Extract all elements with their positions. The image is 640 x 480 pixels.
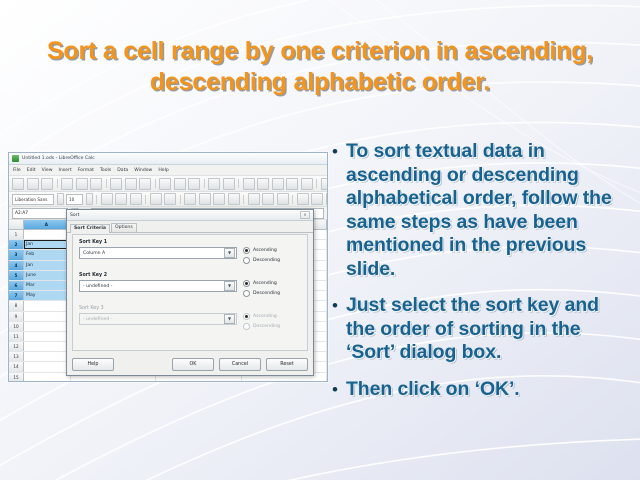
print-preview-icon[interactable] xyxy=(90,178,102,190)
sort-key-1-descending-radio[interactable]: Descending xyxy=(243,257,301,264)
name-box-input[interactable]: A2:A7 xyxy=(12,208,68,219)
radio-dot-icon xyxy=(243,247,250,254)
formatting-toolbar: Liberation Sans 10 xyxy=(9,192,327,207)
grid-cell[interactable]: Jan xyxy=(24,261,71,270)
sort-key-3-descending-radio: Descending xyxy=(243,323,301,330)
sort-key-3-value: - undefined - xyxy=(80,317,112,322)
slide-canvas: Sort a cell range by one criterion in as… xyxy=(0,0,640,480)
toolbar-separator xyxy=(292,195,293,204)
bullet-text: Just select the sort key and the order o… xyxy=(346,294,630,365)
sort-descending-icon[interactable] xyxy=(257,178,269,190)
align-right-icon[interactable] xyxy=(213,193,225,205)
descending-label: Descending xyxy=(253,258,280,263)
bullet-text: Then click on ‘OK’. xyxy=(346,378,630,402)
sort-key-3-select: - undefined - ▼ xyxy=(79,313,237,325)
tab-sort-criteria[interactable]: Sort Criteria xyxy=(70,224,110,233)
bullet-marker-icon: • xyxy=(330,294,346,317)
autofilter-icon[interactable] xyxy=(272,178,284,190)
align-center-icon[interactable] xyxy=(199,193,211,205)
sort-key-1-group: Sort Key 1 Column A ▼ Ascending xyxy=(79,240,301,267)
print-icon[interactable] xyxy=(76,178,88,190)
row-header[interactable]: 5 xyxy=(9,271,24,280)
sort-dialog-button-row: Help OK Cancel Reset xyxy=(72,358,308,371)
sort-key-3-ascending-radio: Ascending xyxy=(243,313,301,320)
save-icon[interactable] xyxy=(41,178,53,190)
row-header[interactable]: 15 xyxy=(9,373,24,382)
grid-cell[interactable] xyxy=(24,301,71,310)
embedded-screenshot-libreoffice-calc: Untitled 1.ods - LibreOffice Calc File E… xyxy=(8,152,328,382)
sort-key-2-ascending-radio[interactable]: Ascending xyxy=(243,280,301,287)
toolbar-separator xyxy=(204,179,205,188)
format-currency-icon[interactable] xyxy=(297,193,309,205)
clone-formatting-icon[interactable] xyxy=(159,178,171,190)
font-name-input[interactable]: Liberation Sans xyxy=(12,194,54,205)
grid-cell[interactable] xyxy=(24,342,71,351)
grid-cell[interactable]: Feb xyxy=(24,250,71,259)
spelling-icon[interactable] xyxy=(208,178,220,190)
radio-dot-icon xyxy=(243,313,250,320)
menu-item-file[interactable]: File xyxy=(13,168,21,173)
grid-cell[interactable] xyxy=(24,332,71,341)
row-header[interactable]: 8 xyxy=(9,301,24,310)
bullet-text: To sort textual data in ascending or des… xyxy=(346,140,630,281)
grid-cell[interactable]: June xyxy=(24,271,71,280)
format-percent-icon[interactable] xyxy=(311,193,323,205)
sort-dialog: Sort × Sort Criteria Options Sort Key 1 … xyxy=(66,209,314,376)
list-item: • Just select the sort key and the order… xyxy=(330,294,630,365)
reset-button[interactable]: Reset xyxy=(266,358,308,371)
menu-item-help[interactable]: Help xyxy=(158,168,168,173)
row-header[interactable]: 11 xyxy=(9,332,24,341)
menu-item-view[interactable]: View xyxy=(42,168,53,173)
menu-item-insert[interactable]: Insert xyxy=(59,168,72,173)
toolbar-separator xyxy=(243,195,244,204)
ascending-label: Ascending xyxy=(253,314,277,319)
chevron-down-icon[interactable]: ▼ xyxy=(224,248,235,258)
calc-menu-bar: File Edit View Insert Format Tools Data … xyxy=(9,165,327,176)
sort-key-3-label: Sort Key 3 xyxy=(79,306,301,311)
toolbar-separator xyxy=(316,179,317,188)
sort-key-2-descending-radio[interactable]: Descending xyxy=(243,290,301,297)
row-header[interactable]: 10 xyxy=(9,322,24,331)
row-header[interactable]: 9 xyxy=(9,312,24,321)
list-item: • Then click on ‘OK’. xyxy=(330,378,630,402)
bullet-marker-icon: • xyxy=(330,140,346,163)
radio-dot-icon xyxy=(243,323,250,330)
toolbar-separator xyxy=(57,179,58,188)
sort-key-1-label: Sort Key 1 xyxy=(79,240,301,245)
column-header-a[interactable]: A xyxy=(24,220,70,229)
paste-icon[interactable] xyxy=(139,178,151,190)
row-header[interactable]: 6 xyxy=(9,281,24,290)
ok-button[interactable]: OK xyxy=(172,358,214,371)
row-header[interactable]: 12 xyxy=(9,342,24,351)
calc-window-title-bar: Untitled 1.ods - LibreOffice Calc xyxy=(9,153,327,165)
close-icon[interactable]: × xyxy=(300,211,310,219)
grid-cell[interactable] xyxy=(24,322,71,331)
sort-ascending-icon[interactable] xyxy=(243,178,255,190)
font-size-dropdown-icon[interactable] xyxy=(86,193,93,205)
underline-icon[interactable] xyxy=(130,193,142,205)
insert-hyperlink-icon[interactable] xyxy=(321,178,329,190)
slide-body-bullet-list: • To sort textual data in ascending or d… xyxy=(330,140,630,414)
radio-dot-icon xyxy=(243,280,250,287)
sort-key-2-label: Sort Key 2 xyxy=(79,273,301,278)
calc-document-icon xyxy=(12,155,19,162)
format-number-icon[interactable] xyxy=(326,193,329,205)
menu-item-edit[interactable]: Edit xyxy=(27,168,36,173)
ascending-label: Ascending xyxy=(253,281,277,286)
grid-cell[interactable]: Mar xyxy=(24,281,71,290)
sort-key-3-group: Sort Key 3 - undefined - ▼ Ascending xyxy=(79,306,301,333)
row-header[interactable]: 2 xyxy=(9,240,24,249)
font-name-dropdown-icon[interactable] xyxy=(57,193,64,205)
cut-icon[interactable] xyxy=(110,178,122,190)
sort-dialog-tab-strip: Sort Criteria Options xyxy=(67,221,313,233)
row-header[interactable]: 14 xyxy=(9,362,24,371)
sort-key-2-value: - undefined - xyxy=(80,284,112,289)
toolbar-separator xyxy=(238,179,239,188)
toolbar-separator xyxy=(180,195,181,204)
grid-cell[interactable] xyxy=(24,230,71,239)
align-top-icon[interactable] xyxy=(248,193,260,205)
row-header[interactable]: 3 xyxy=(9,250,24,259)
row-header[interactable]: 13 xyxy=(9,352,24,361)
radio-dot-icon xyxy=(243,257,250,264)
radio-dot-icon xyxy=(243,290,250,297)
sort-key-1-value: Column A xyxy=(80,251,105,256)
sort-key-1-select[interactable]: Column A ▼ xyxy=(79,247,237,259)
copy-icon[interactable] xyxy=(125,178,137,190)
sort-key-1-ascending-radio[interactable]: Ascending xyxy=(243,247,301,254)
descending-label: Descending xyxy=(253,324,280,329)
align-justified-icon[interactable] xyxy=(228,193,240,205)
list-item: • To sort textual data in ascending or d… xyxy=(330,140,630,281)
toolbar-separator xyxy=(145,195,146,204)
font-size-input[interactable]: 10 xyxy=(66,194,83,205)
insert-chart-icon[interactable] xyxy=(286,178,298,190)
menu-item-window[interactable]: Window xyxy=(134,168,152,173)
align-left-icon[interactable] xyxy=(184,193,196,205)
sort-key-2-select[interactable]: - undefined - ▼ xyxy=(79,280,237,292)
align-bottom-icon[interactable] xyxy=(277,193,289,205)
row-header[interactable]: 4 xyxy=(9,261,24,270)
grid-cell[interactable] xyxy=(24,312,71,321)
cancel-button[interactable]: Cancel xyxy=(219,358,261,371)
menu-item-format[interactable]: Format xyxy=(78,168,94,173)
toolbar-separator xyxy=(155,179,156,188)
grid-cell[interactable] xyxy=(24,362,71,371)
grid-cell[interactable] xyxy=(24,373,71,382)
align-center-vertically-icon[interactable] xyxy=(262,193,274,205)
slide-title: Sort a cell range by one criterion in as… xyxy=(34,36,606,98)
bold-icon[interactable] xyxy=(101,193,113,205)
sort-key-2-group: Sort Key 2 - undefined - ▼ Ascending xyxy=(79,273,301,300)
descending-label: Descending xyxy=(253,291,280,296)
sort-criteria-panel: Sort Key 1 Column A ▼ Ascending xyxy=(72,234,308,351)
ascending-label: Ascending xyxy=(253,248,277,253)
bullet-marker-icon: • xyxy=(330,378,346,401)
sort-dialog-title-bar: Sort × xyxy=(67,210,313,221)
sort-dialog-title: Sort xyxy=(70,213,79,218)
toolbar-separator xyxy=(106,179,107,188)
grid-cell[interactable] xyxy=(24,352,71,361)
undo-icon[interactable] xyxy=(174,178,186,190)
row-header[interactable]: 1 xyxy=(9,230,24,239)
grid-cell[interactable]: May xyxy=(24,291,71,300)
sort-key-1-order-group: Ascending Descending xyxy=(243,247,301,267)
highlight-color-icon[interactable] xyxy=(164,193,176,205)
sort-key-2-order-group: Ascending Descending xyxy=(243,280,301,300)
italic-icon[interactable] xyxy=(115,193,127,205)
new-document-icon[interactable] xyxy=(12,178,24,190)
open-document-icon[interactable] xyxy=(27,178,39,190)
sort-key-3-order-group: Ascending Descending xyxy=(243,313,301,333)
calc-window-title: Untitled 1.ods - LibreOffice Calc xyxy=(22,156,95,161)
standard-toolbar xyxy=(9,176,327,192)
redo-icon[interactable] xyxy=(188,178,200,190)
find-replace-icon[interactable] xyxy=(223,178,235,190)
tab-options[interactable]: Options xyxy=(111,223,137,232)
export-pdf-icon[interactable] xyxy=(61,178,73,190)
insert-table-icon[interactable] xyxy=(301,178,313,190)
menu-item-data[interactable]: Data xyxy=(117,168,128,173)
font-color-icon[interactable] xyxy=(150,193,162,205)
help-button[interactable]: Help xyxy=(72,358,114,371)
chevron-down-icon[interactable]: ▼ xyxy=(224,281,235,291)
grid-cell[interactable]: Jan xyxy=(24,240,71,249)
row-header[interactable]: 7 xyxy=(9,291,24,300)
toolbar-separator xyxy=(96,195,97,204)
select-all-corner[interactable] xyxy=(9,220,24,229)
menu-item-tools[interactable]: Tools xyxy=(100,168,111,173)
chevron-down-icon: ▼ xyxy=(224,314,235,324)
